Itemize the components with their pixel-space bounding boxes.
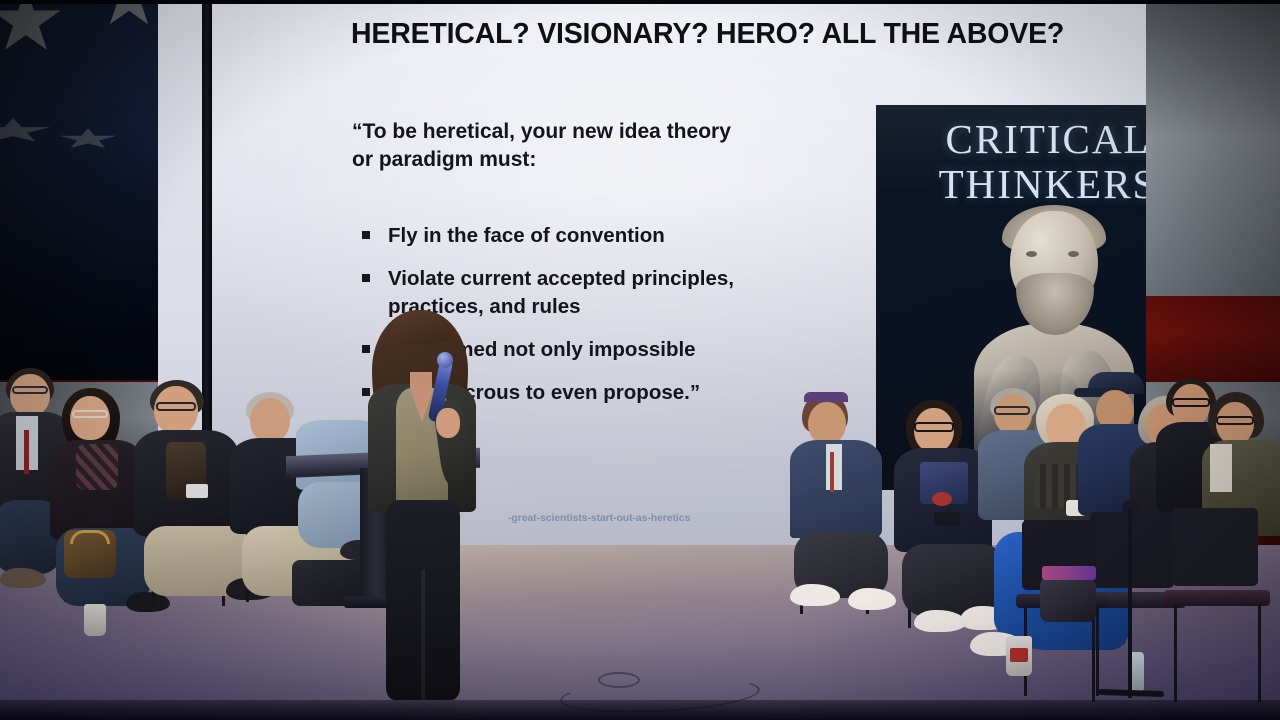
smartphone [934, 512, 960, 526]
shoe [848, 588, 896, 610]
inner-shirt [826, 444, 842, 490]
sunglasses-on-head-icon [804, 392, 848, 402]
bullet-square-icon [362, 231, 370, 239]
patterned-scarf [76, 444, 118, 490]
audience-member [790, 392, 910, 642]
ct-line-2: THINKERS [876, 164, 1146, 205]
speaker [352, 300, 492, 720]
cable-loop [598, 672, 640, 688]
name-badge [186, 484, 208, 498]
slide-source-url: -great-scientists-start-out-as-heretics [508, 512, 690, 524]
speaker-hand [436, 408, 460, 438]
cup-label [1010, 648, 1028, 662]
microphone-head-icon [437, 352, 453, 368]
eyeglasses [914, 422, 954, 432]
presentation-scene: CRITICAL THINKERS HERET [0, 0, 1280, 720]
handbag [1040, 578, 1096, 622]
shoe [790, 584, 840, 606]
eyeglasses [1216, 416, 1254, 425]
shoe [914, 610, 966, 632]
drink-cup [84, 604, 106, 636]
paper-flyer [1042, 566, 1096, 580]
lanyard [830, 452, 834, 492]
microphone-stand [1128, 508, 1132, 698]
bullet-item: Fly in the face of convention [352, 222, 772, 249]
head [70, 396, 110, 440]
slide-quote-intro: “To be heretical, your new idea theory o… [352, 118, 742, 173]
eyeglasses [156, 402, 196, 411]
head [808, 402, 846, 444]
frame-edge [0, 0, 1280, 4]
critical-thinkers-title: CRITICAL THINKERS [876, 119, 1146, 205]
head [250, 398, 290, 442]
shoe [0, 568, 46, 588]
eyeglasses [72, 410, 108, 418]
head [10, 374, 50, 416]
empty-folding-chair [1168, 508, 1278, 704]
slide-title: HERETICAL? VISIONARY? HERO? ALL THE ABOV… [351, 18, 1071, 51]
eyeglasses [12, 386, 48, 394]
ct-line-1: CRITICAL [876, 119, 1146, 160]
floor-shadow [0, 700, 1280, 720]
graphic-badge [932, 492, 952, 506]
bag-handle [70, 530, 110, 544]
lanyard [24, 430, 29, 474]
bullet-square-icon [362, 274, 370, 282]
inner-shirt [1210, 444, 1232, 492]
smartphone [86, 508, 112, 522]
bullet-text: Fly in the face of convention [388, 224, 665, 247]
speaker-pants [386, 500, 460, 700]
